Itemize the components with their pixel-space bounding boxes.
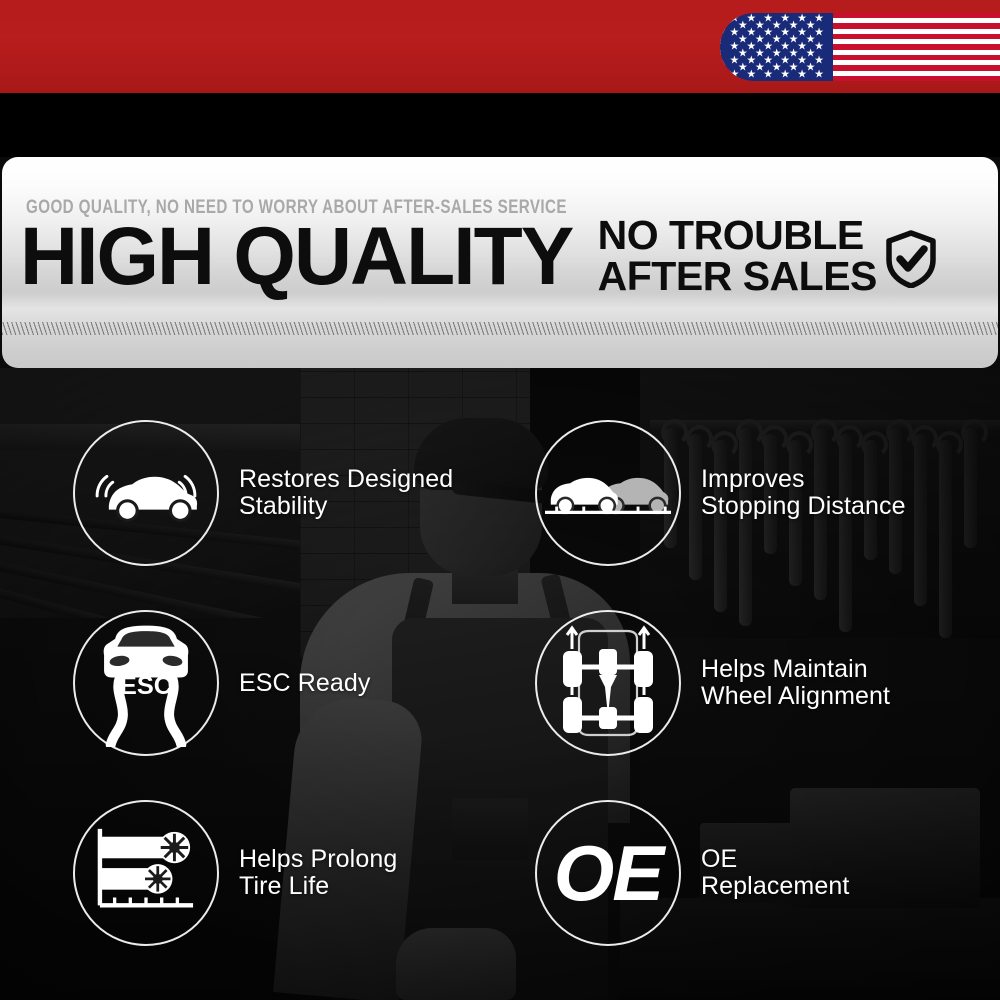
esc-car-skid-icon: ESC (73, 610, 219, 756)
banner-subhead-line2: AFTER SALES (598, 256, 877, 297)
banner-subhead-line1: NO TROUBLE (598, 215, 877, 256)
feature-item-tire-life[interactable]: Helps Prolong Tire Life (73, 800, 397, 946)
quality-banner: GOOD QUALITY, NO NEED TO WORRY ABOUT AFT… (2, 157, 998, 368)
usa-flag: ★★★★★★★★★★★★★★★★★★★★★★★★★★★★★★★★★★★★★★★★… (720, 13, 1000, 81)
feature-label: ESC Ready (239, 670, 371, 697)
flag-star: ★ (746, 70, 756, 81)
flag-star: ★ (729, 70, 739, 81)
esc-icon-text: ESC (120, 672, 172, 700)
banner-headline: HIGH QUALITY (20, 213, 572, 301)
oe-text-icon: OE (535, 800, 681, 946)
black-divider (0, 93, 1000, 157)
flag-canton: ★★★★★★★★★★★★★★★★★★★★★★★★★★★★★★★★★★★★★★★★… (720, 13, 833, 81)
feature-label: Restores Designed Stability (239, 466, 453, 520)
chassis-wheel-alignment-icon (535, 610, 681, 756)
shield-check-icon (885, 230, 937, 286)
flag-star: ★ (780, 70, 790, 81)
banner-main-row: HIGH QUALITY NO TROUBLE AFTER SALES (20, 213, 980, 301)
feature-item-restores-designed-stability[interactable]: Restores Designed Stability (73, 420, 453, 566)
feature-label: Helps Maintain Wheel Alignment (701, 656, 890, 710)
two-cars-braking-icon (535, 420, 681, 566)
feature-item-esc-ready[interactable]: ESC ESC Ready (73, 610, 371, 756)
car-stability-icon (73, 420, 219, 566)
flag-star: ★ (814, 70, 824, 81)
top-red-bar: ★★★★★★★★★★★★★★★★★★★★★★★★★★★★★★★★★★★★★★★★… (0, 0, 1000, 93)
feature-label: OE Replacement (701, 846, 849, 900)
tire-life-bar-chart-icon (73, 800, 219, 946)
oe-icon-text: OE (554, 834, 663, 912)
feature-item-improves-stopping-distance[interactable]: Improves Stopping Distance (535, 420, 906, 566)
feature-label: Helps Prolong Tire Life (239, 846, 397, 900)
flag-stars: ★★★★★★★★★★★★★★★★★★★★★★★★★★★★★★★★★★★★★★★★… (720, 13, 833, 81)
banner-hatch-stripe (2, 322, 998, 335)
feature-item-oe-replacement[interactable]: OE OE Replacement (535, 800, 849, 946)
promo-image-root: ★★★★★★★★★★★★★★★★★★★★★★★★★★★★★★★★★★★★★★★★… (0, 0, 1000, 1000)
feature-item-wheel-alignment[interactable]: Helps Maintain Wheel Alignment (535, 610, 890, 756)
feature-grid: Restores Designed Stability (0, 368, 1000, 1000)
banner-subhead-text: NO TROUBLE AFTER SALES (598, 215, 877, 297)
flag-star: ★ (797, 70, 807, 81)
banner-subhead-group: NO TROUBLE AFTER SALES (598, 213, 937, 297)
flag-star: ★ (763, 70, 773, 81)
feature-label: Improves Stopping Distance (701, 466, 906, 520)
